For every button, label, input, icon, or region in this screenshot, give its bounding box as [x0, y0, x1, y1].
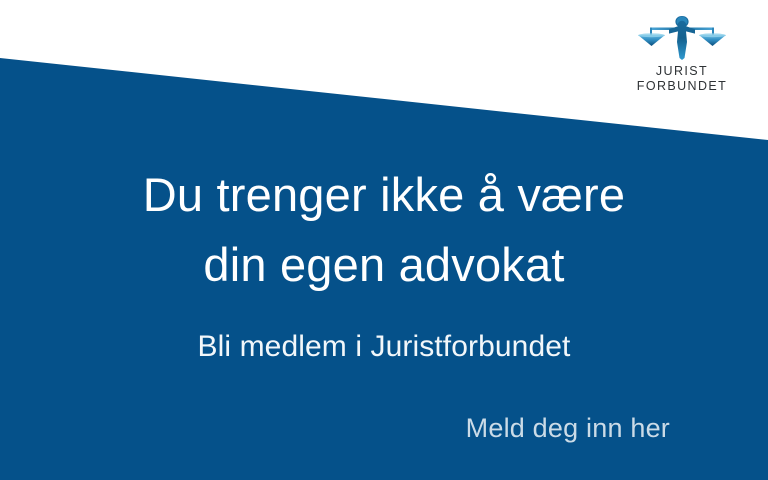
- join-now-link[interactable]: Meld deg inn her: [466, 410, 670, 446]
- logo-wordmark-line-1: JURIST: [637, 64, 727, 79]
- headline-line-2: din egen advokat: [0, 230, 768, 300]
- headline: Du trenger ikke å være din egen advokat: [0, 160, 768, 300]
- logo-wordmark: JURIST FORBUNDET: [637, 64, 727, 95]
- logo-wordmark-line-2: FORBUNDET: [637, 79, 727, 94]
- subheadline: Bli medlem i Juristforbundet: [0, 327, 768, 367]
- juristforbundet-logo[interactable]: JURIST FORBUNDET: [618, 14, 746, 95]
- headline-line-1: Du trenger ikke å være: [0, 160, 768, 230]
- advertisement-banner[interactable]: JURIST FORBUNDET Du trenger ikke å være …: [0, 0, 768, 480]
- scales-of-justice-icon: [636, 14, 728, 60]
